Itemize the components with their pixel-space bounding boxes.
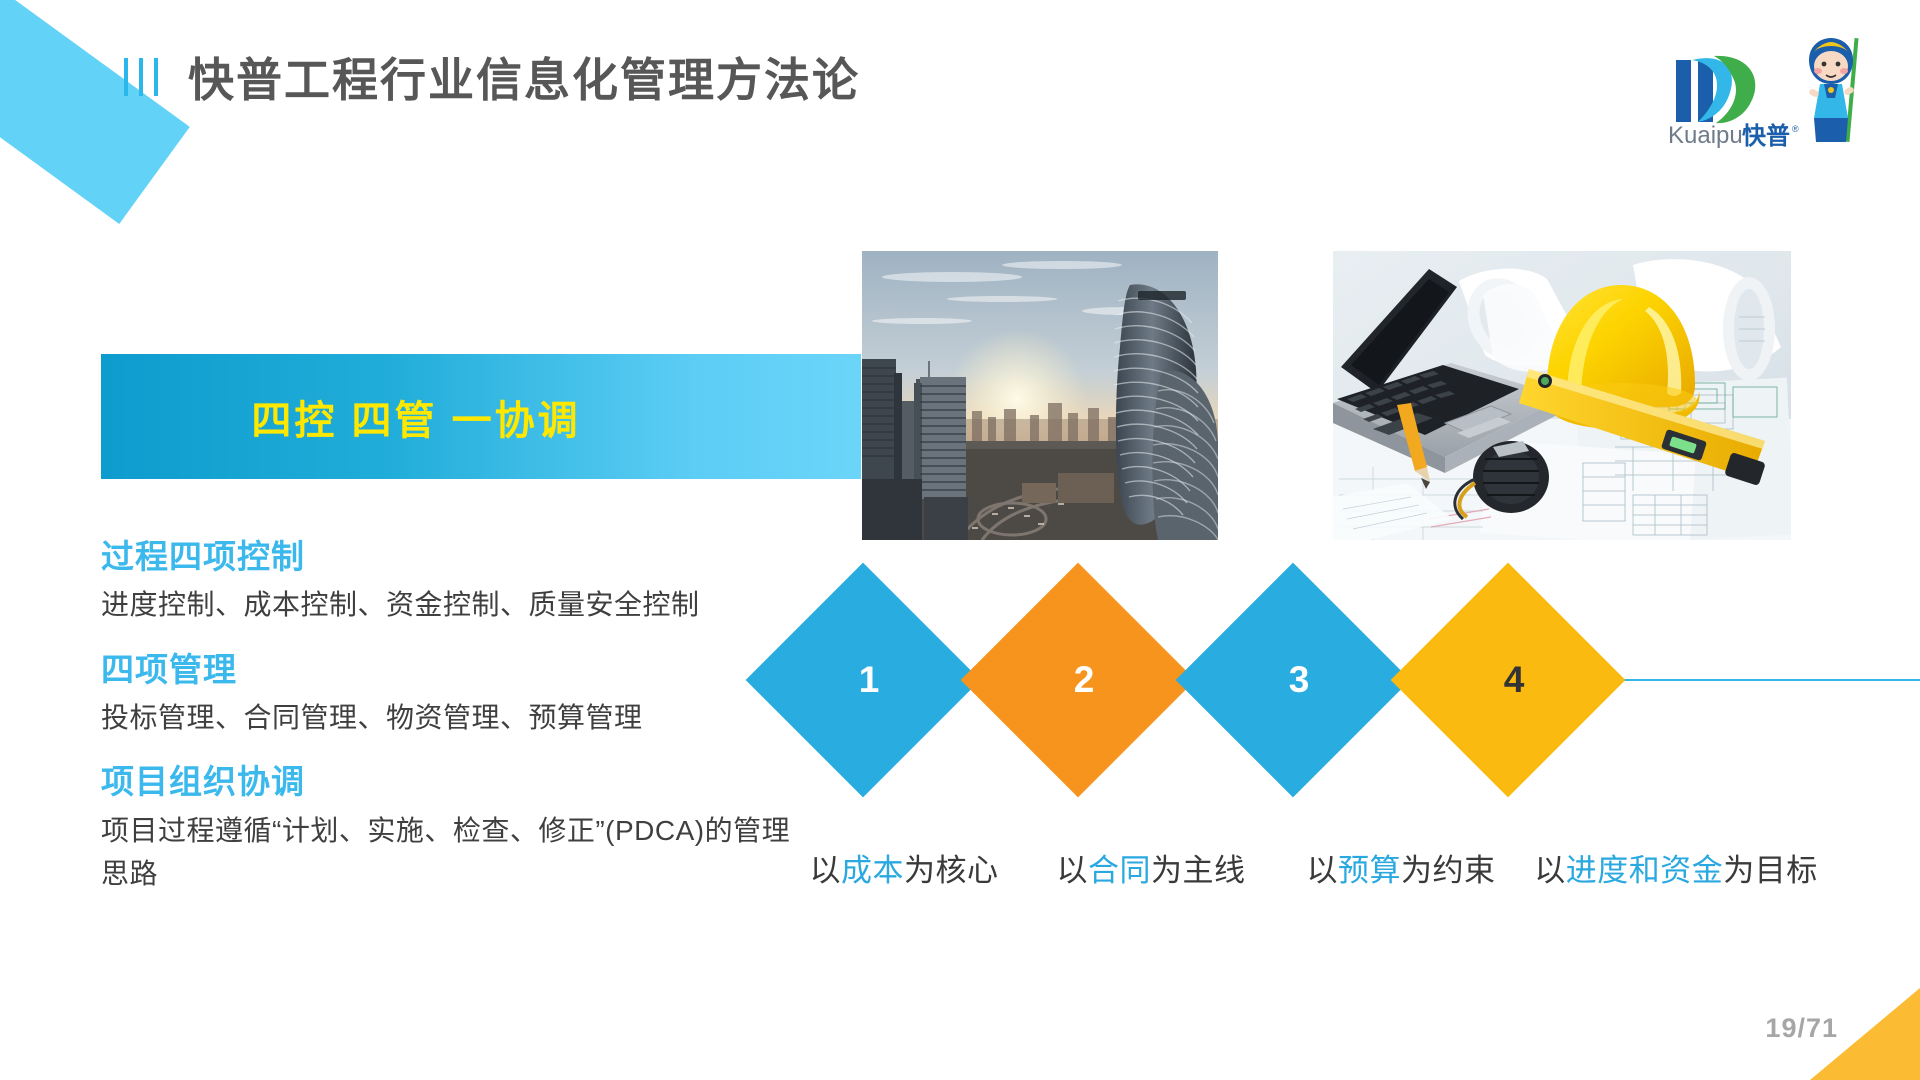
- page-title: 快普工程行业信息化管理方法论: [188, 44, 860, 110]
- slide-canvas: 快普工程行业信息化管理方法论 Kuaipu 快普 ®: [0, 0, 1920, 1080]
- top-left-diagonal-band-decoration: [0, 0, 190, 224]
- methodology-text-column: 过程四项控制 进度控制、成本控制、资金控制、质量安全控制 四项管理 投标管理、合…: [101, 536, 791, 895]
- block-body: 项目过程遵循“计划、实施、检查、修正”(PDCA)的管理思路: [101, 809, 791, 896]
- logo-trademark: ®: [1792, 124, 1799, 134]
- kp-monogram-icon: [1676, 56, 1755, 123]
- block-heading: 过程四项控制: [101, 536, 791, 577]
- construction-desk-photo: [1333, 251, 1791, 540]
- block-heading: 四项管理: [101, 649, 791, 690]
- node-number: 3: [1210, 597, 1376, 763]
- logo-wordmark-latin: Kuaipu: [1668, 122, 1743, 149]
- kuaipu-logo: Kuaipu 快普 ®: [1654, 26, 1884, 150]
- caption-prefix: 以: [1534, 853, 1566, 888]
- node-number: 4: [1425, 597, 1591, 763]
- caption-suffix: 为约束: [1401, 853, 1496, 888]
- methodology-block: 四项管理 投标管理、合同管理、物资管理、预算管理: [101, 649, 791, 740]
- caption-suffix: 为核心: [904, 853, 999, 888]
- three-vertical-bars-icon: [124, 57, 158, 97]
- caption-highlight: 合同: [1088, 853, 1151, 888]
- methodology-block: 项目组织协调 项目过程遵循“计划、实施、检查、修正”(PDCA)的管理思路: [101, 761, 791, 895]
- node-number: 1: [780, 597, 946, 763]
- block-body: 进度控制、成本控制、资金控制、质量安全控制: [101, 583, 791, 626]
- banner-text: 四控 四管 一协调: [251, 388, 580, 446]
- timeline-caption-1: 以成本为核心: [782, 845, 1026, 890]
- slide-header: 快普工程行业信息化管理方法论: [124, 44, 860, 110]
- timeline-caption-2: 以合同为主线: [1026, 845, 1276, 890]
- caption-prefix: 以: [810, 853, 842, 888]
- caption-highlight: 进度和资金: [1566, 853, 1724, 888]
- node-number: 2: [995, 597, 1161, 763]
- methodology-block: 过程四项控制 进度控制、成本控制、资金控制、质量安全控制: [101, 536, 791, 627]
- caption-prefix: 以: [1057, 853, 1089, 888]
- timeline-caption-4: 以进度和资金为目标: [1526, 845, 1826, 890]
- timeline-caption-3: 以预算为约束: [1276, 845, 1526, 890]
- caption-suffix: 为主线: [1151, 853, 1246, 888]
- timeline-node-2[interactable]: 2: [995, 597, 1161, 763]
- timeline-captions: 以成本为核心 以合同为主线 以预算为约束 以进度和资金为目标: [782, 845, 1920, 890]
- timeline-node-1[interactable]: 1: [780, 597, 946, 763]
- city-skyline-photo: [862, 251, 1218, 540]
- caption-highlight: 成本: [841, 853, 904, 888]
- timeline-node-4[interactable]: 4: [1425, 597, 1591, 763]
- caption-suffix: 为目标: [1723, 853, 1818, 888]
- caption-prefix: 以: [1307, 853, 1339, 888]
- logo-wordmark-cn: 快普: [1742, 122, 1790, 150]
- numbered-diamond-timeline: 1 2 3 4: [780, 585, 1920, 775]
- caption-highlight: 预算: [1338, 853, 1401, 888]
- key-message-banner: 四控 四管 一协调: [101, 354, 861, 479]
- page-number: 19/71: [1765, 1013, 1838, 1044]
- timeline-node-3[interactable]: 3: [1210, 597, 1376, 763]
- monkey-mascot-icon: [1808, 38, 1858, 142]
- block-body: 投标管理、合同管理、物资管理、预算管理: [101, 696, 791, 739]
- block-heading: 项目组织协调: [101, 761, 791, 802]
